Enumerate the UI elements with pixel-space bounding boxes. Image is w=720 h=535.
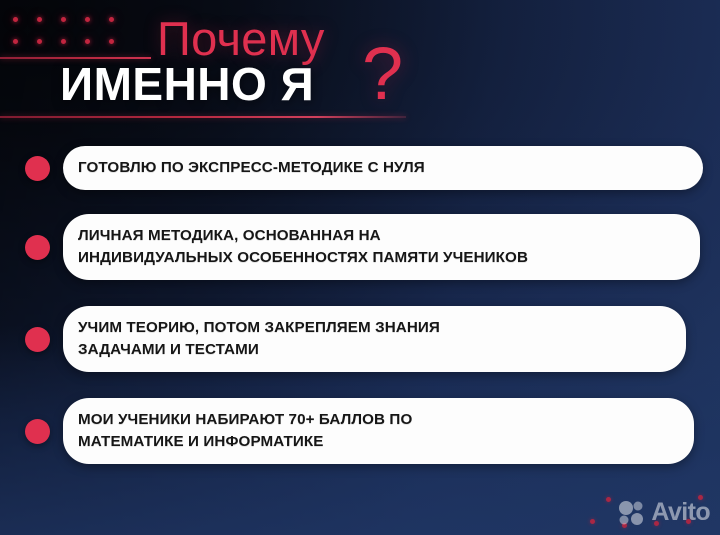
bullet-dot-icon (25, 419, 50, 444)
avito-wordmark: Avito (651, 498, 710, 527)
list-item: УЧИМ ТЕОРИЮ, ПОТОМ ЗАКРЕПЛЯЕМ ЗНАНИЯ ЗАД… (0, 299, 720, 379)
bullet-dot-icon (25, 327, 50, 352)
avito-logo-icon (618, 500, 646, 526)
feature-text: ГОТОВЛЮ ПО ЭКСПРЕСС-МЕТОДИКЕ С НУЛЯ (78, 157, 425, 179)
feature-text: ЛИЧНАЯ МЕТОДИКА, ОСНОВАННАЯ НА ИНДИВИДУА… (78, 225, 528, 268)
bullet-dot-icon (25, 235, 50, 260)
list-item: ЛИЧНАЯ МЕТОДИКА, ОСНОВАННАЯ НА ИНДИВИДУА… (0, 206, 720, 288)
watermark-dot-accents (588, 489, 714, 533)
poster-header: Почему ИМЕННО Я ? (0, 0, 720, 140)
page-title-line-1: Почему (157, 15, 325, 62)
feature-pill: УЧИМ ТЕОРИЮ, ПОТОМ ЗАКРЕПЛЯЕМ ЗНАНИЯ ЗАД… (63, 306, 686, 371)
question-mark-glyph: ? (362, 37, 403, 111)
list-item: ГОТОВЛЮ ПО ЭКСПРЕСС-МЕТОДИКЕ С НУЛЯ (0, 140, 720, 196)
feature-pill: МОИ УЧЕНИКИ НАБИРАЮТ 70+ БАЛЛОВ ПО МАТЕМ… (63, 398, 694, 463)
avito-watermark: Avito (618, 498, 710, 527)
feature-list: ГОТОВЛЮ ПО ЭКСПРЕСС-МЕТОДИКЕ С НУЛЯ ЛИЧН… (0, 140, 720, 484)
page-title-line-2: ИМЕННО Я (60, 61, 314, 107)
feature-text: МОИ УЧЕНИКИ НАБИРАЮТ 70+ БАЛЛОВ ПО МАТЕМ… (78, 409, 412, 452)
feature-text: УЧИМ ТЕОРИЮ, ПОТОМ ЗАКРЕПЛЯЕМ ЗНАНИЯ ЗАД… (78, 317, 440, 360)
poster-canvas: Почему ИМЕННО Я ? ГОТОВЛЮ ПО ЭКСПРЕСС-МЕ… (0, 0, 720, 535)
feature-pill: ГОТОВЛЮ ПО ЭКСПРЕСС-МЕТОДИКЕ С НУЛЯ (63, 146, 703, 190)
list-item: МОИ УЧЕНИКИ НАБИРАЮТ 70+ БАЛЛОВ ПО МАТЕМ… (0, 390, 720, 472)
accent-rule-bottom (0, 116, 406, 118)
bullet-dot-icon (25, 156, 50, 181)
feature-pill: ЛИЧНАЯ МЕТОДИКА, ОСНОВАННАЯ НА ИНДИВИДУА… (63, 214, 700, 279)
